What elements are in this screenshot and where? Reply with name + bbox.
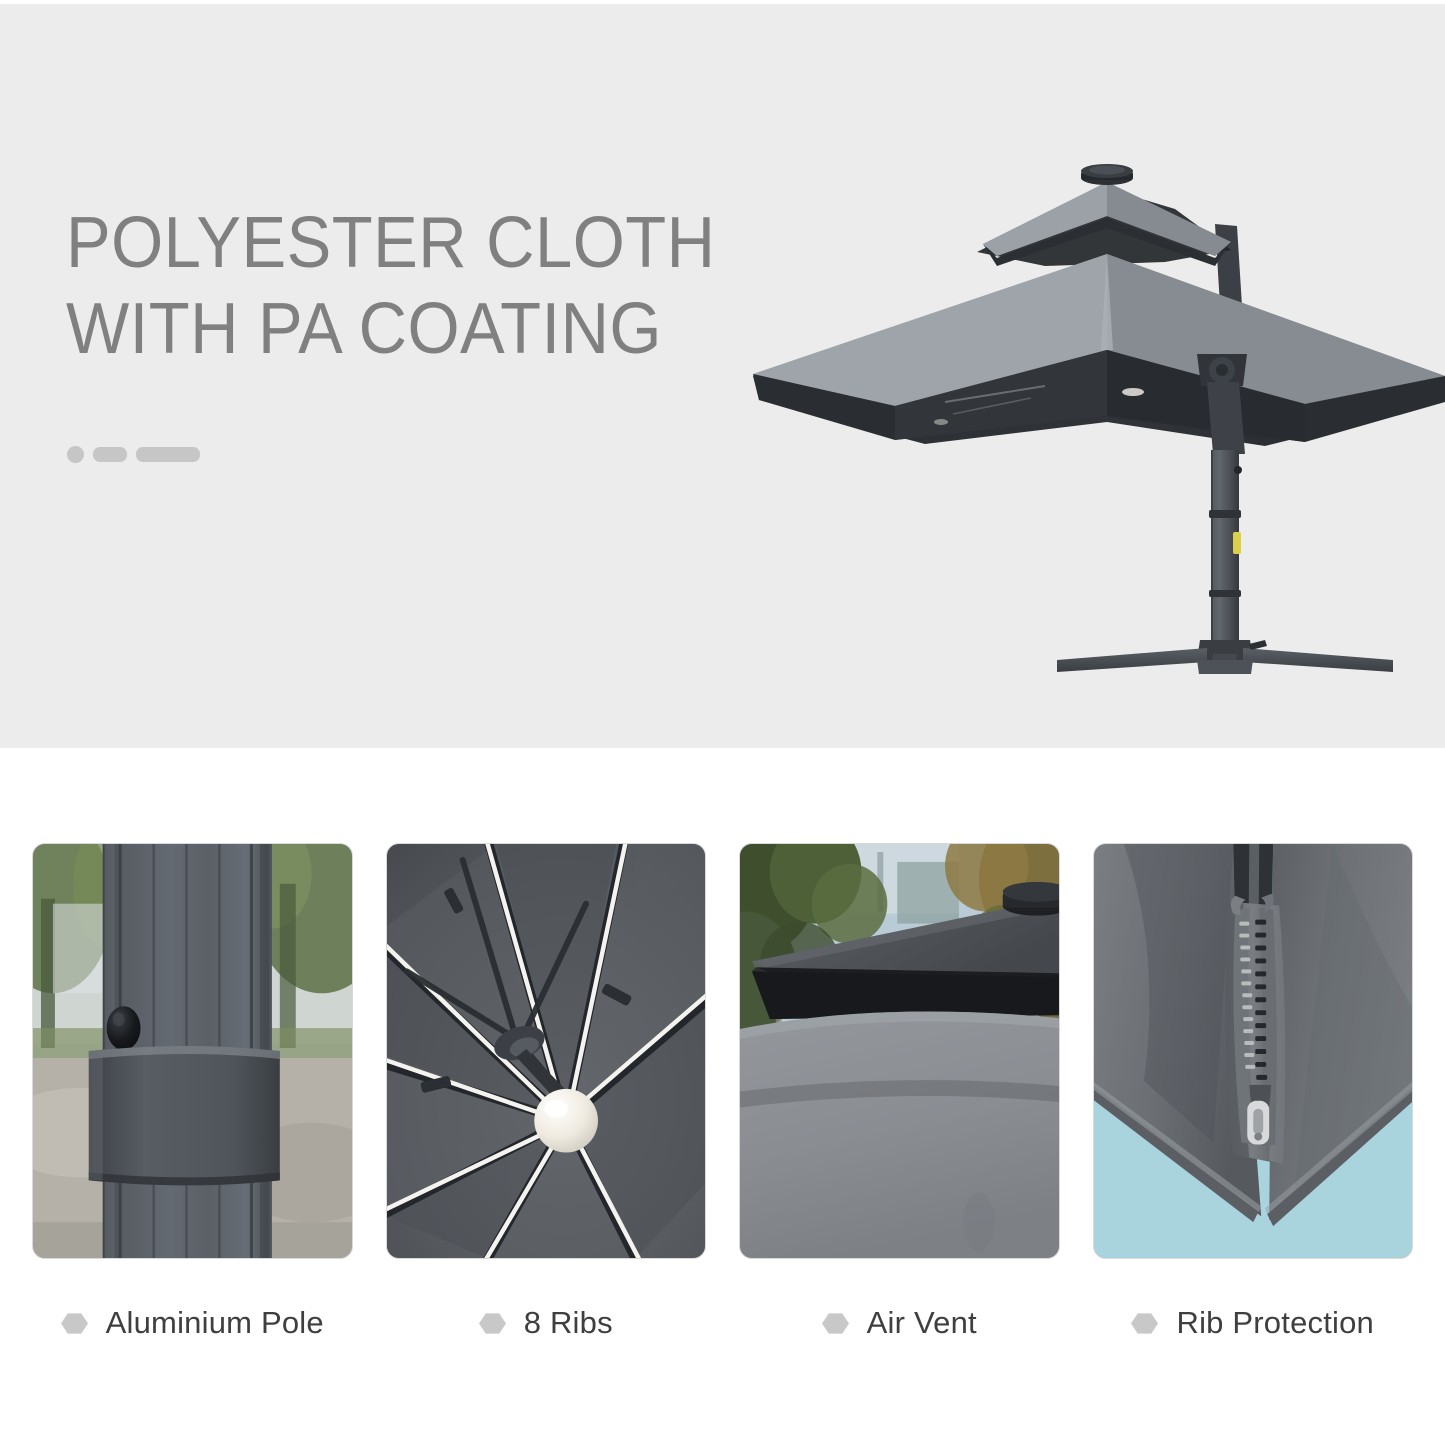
deco-dot-icon bbox=[67, 446, 84, 463]
caption-cell-rib-protection: Rib Protection bbox=[1093, 1288, 1414, 1358]
caption-cell-aluminium-pole: Aluminium Pole bbox=[32, 1288, 353, 1358]
thumb-8-ribs[interactable] bbox=[386, 843, 707, 1259]
page-title: POLYESTER CLOTH WITH PA COATING bbox=[66, 200, 773, 372]
decorative-pagination-marks bbox=[67, 446, 200, 463]
feature-caption-row: Aluminium Pole 8 Ribs Air Vent Rib Prote… bbox=[0, 1288, 1445, 1358]
caption-label: Aluminium Pole bbox=[106, 1305, 324, 1341]
caption-label: Rib Protection bbox=[1176, 1305, 1374, 1341]
hexagon-bullet-icon bbox=[61, 1310, 88, 1337]
deco-bar-long-icon bbox=[136, 447, 200, 462]
caption-label: 8 Ribs bbox=[524, 1305, 613, 1341]
thumb-rib-protection[interactable] bbox=[1093, 843, 1414, 1259]
caption-cell-8-ribs: 8 Ribs bbox=[386, 1288, 707, 1358]
feature-thumbnail-row bbox=[0, 843, 1445, 1259]
hexagon-bullet-icon bbox=[822, 1310, 849, 1337]
caption-label: Air Vent bbox=[867, 1305, 977, 1341]
product-image-cantilever-umbrella bbox=[745, 154, 1445, 674]
deco-bar-short-icon bbox=[93, 447, 127, 462]
hexagon-bullet-icon bbox=[479, 1310, 506, 1337]
hero-panel: POLYESTER CLOTH WITH PA COATING bbox=[0, 4, 1445, 748]
thumb-aluminium-pole[interactable] bbox=[32, 843, 353, 1259]
hexagon-bullet-icon bbox=[1131, 1310, 1158, 1337]
thumb-air-vent[interactable] bbox=[739, 843, 1060, 1259]
caption-cell-air-vent: Air Vent bbox=[739, 1288, 1060, 1358]
